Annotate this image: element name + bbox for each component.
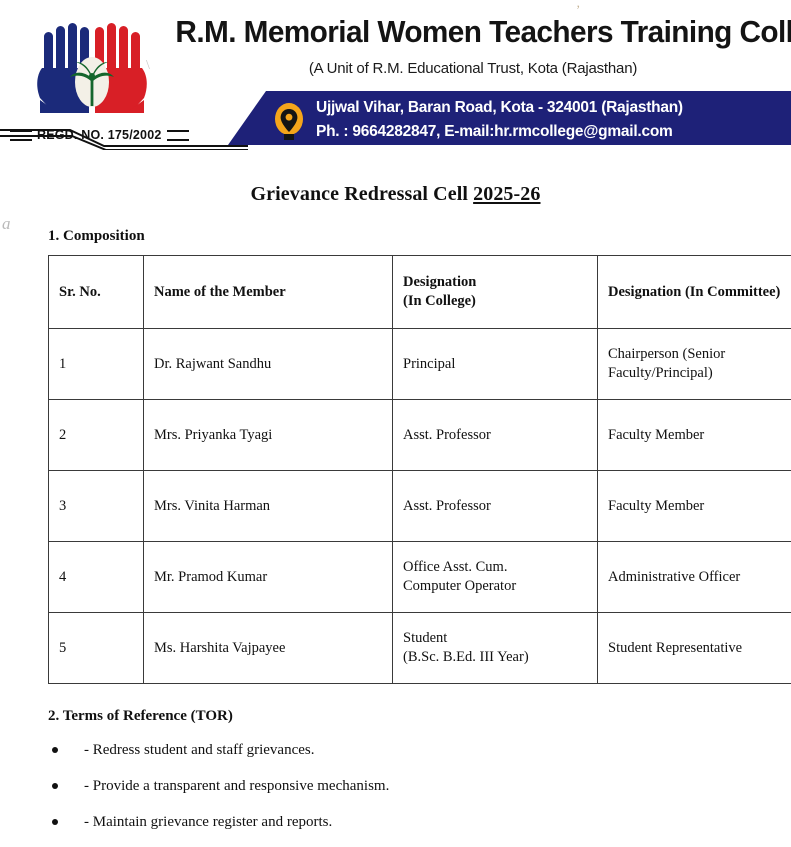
cell-designation-committee: Administrative Officer bbox=[598, 542, 791, 613]
cell-designation-college: Asst. Professor bbox=[393, 400, 598, 471]
scan-artifact-margin: a bbox=[2, 214, 11, 234]
list-item: - Redress student and staff grievances. bbox=[48, 740, 748, 762]
college-name: R.M. Memorial Women Teachers Training Co… bbox=[175, 16, 770, 49]
page-title-text: Grievance Redressal Cell bbox=[250, 183, 473, 205]
column-header-designation-college: Designation (In College) bbox=[393, 256, 598, 329]
cell-name: Mr. Pramod Kumar bbox=[144, 542, 393, 613]
table-header-row: Sr. No. Name of the Member Designation (… bbox=[49, 256, 791, 329]
letterhead: REGD. NO. 175/2002 R.M. Memorial Women T… bbox=[0, 0, 791, 168]
cell-designation-college-line1: Principal bbox=[403, 355, 587, 374]
section-heading-composition: 1. Composition bbox=[48, 228, 145, 245]
cell-designation-committee: Chairperson (Senior Faculty/Principal) bbox=[598, 329, 791, 400]
bullet-dot-icon bbox=[52, 747, 58, 753]
cell-designation-college: Principal bbox=[393, 329, 598, 400]
list-item-text: - Maintain grievance register and report… bbox=[84, 814, 332, 830]
page-title: Grievance Redressal Cell 2025-26 bbox=[0, 183, 791, 206]
table-row: 5 Ms. Harshita Vajpayee Student (B.Sc. B… bbox=[49, 613, 791, 684]
cell-name: Mrs. Vinita Harman bbox=[144, 471, 393, 542]
cell-designation-committee: Faculty Member bbox=[598, 400, 791, 471]
cell-designation-college: Student (B.Sc. B.Ed. III Year) bbox=[393, 613, 598, 684]
table-body: 1 Dr. Rajwant Sandhu Principal Chairpers… bbox=[49, 329, 791, 684]
cell-designation-college-line1: Student bbox=[403, 629, 587, 648]
cell-sr-no: 3 bbox=[49, 471, 144, 542]
cell-name: Ms. Harshita Vajpayee bbox=[144, 613, 393, 684]
cell-sr-no: 5 bbox=[49, 613, 144, 684]
banner-contact-block: Ujjwal Vihar, Baran Road, Kota - 324001 … bbox=[316, 96, 786, 144]
table-row: 2 Mrs. Priyanka Tyagi Asst. Professor Fa… bbox=[49, 400, 791, 471]
banner-tail-lines-icon bbox=[0, 124, 248, 150]
cell-name: Mrs. Priyanka Tyagi bbox=[144, 400, 393, 471]
cell-designation-college-line1: Asst. Professor bbox=[403, 497, 587, 516]
section-heading-tor: 2. Terms of Reference (TOR) bbox=[48, 708, 233, 725]
cell-designation-college: Asst. Professor bbox=[393, 471, 598, 542]
cell-sr-no: 4 bbox=[49, 542, 144, 613]
location-pin-icon bbox=[274, 103, 304, 141]
page-title-year: 2025-26 bbox=[473, 183, 540, 205]
cell-designation-college: Office Asst. Cum. Computer Operator bbox=[393, 542, 598, 613]
table-row: 3 Mrs. Vinita Harman Asst. Professor Fac… bbox=[49, 471, 791, 542]
table-row: 4 Mr. Pramod Kumar Office Asst. Cum. Com… bbox=[49, 542, 791, 613]
cell-designation-college-line2: Computer Operator bbox=[403, 577, 587, 596]
bullet-dot-icon bbox=[52, 819, 58, 825]
list-item: - Maintain grievance register and report… bbox=[48, 812, 748, 834]
cell-designation-college-line2: (B.Sc. B.Ed. III Year) bbox=[403, 648, 587, 667]
cell-sr-no: 2 bbox=[49, 400, 144, 471]
column-header-designation-college-line2: (In College) bbox=[403, 292, 587, 311]
banner-contact: Ph. : 9664282847, E-mail:hr.rmcollege@gm… bbox=[316, 120, 786, 144]
list-item-text: - Provide a transparent and responsive m… bbox=[84, 778, 389, 794]
cell-name: Dr. Rajwant Sandhu bbox=[144, 329, 393, 400]
table-row: 1 Dr. Rajwant Sandhu Principal Chairpers… bbox=[49, 329, 791, 400]
banner-address: Ujjwal Vihar, Baran Road, Kota - 324001 … bbox=[316, 96, 786, 120]
composition-table: Sr. No. Name of the Member Designation (… bbox=[48, 255, 791, 684]
cell-designation-committee: Faculty Member bbox=[598, 471, 791, 542]
list-item: - Provide a transparent and responsive m… bbox=[48, 776, 748, 798]
list-item-text: - Redress student and staff grievances. bbox=[84, 742, 315, 758]
bullet-dot-icon bbox=[52, 783, 58, 789]
column-header-sr-no: Sr. No. bbox=[49, 256, 144, 329]
column-header-designation-committee: Designation (In Committee) bbox=[598, 256, 791, 329]
cell-designation-college-line1: Office Asst. Cum. bbox=[403, 558, 587, 577]
cell-designation-committee: Student Representative bbox=[598, 613, 791, 684]
cell-designation-college-line1: Asst. Professor bbox=[403, 426, 587, 445]
college-unit-line: (A Unit of R.M. Educational Trust, Kota … bbox=[163, 60, 783, 77]
cell-sr-no: 1 bbox=[49, 329, 144, 400]
column-header-name: Name of the Member bbox=[144, 256, 393, 329]
tor-list: - Redress student and staff grievances. … bbox=[48, 740, 748, 847]
column-header-designation-college-line1: Designation bbox=[403, 273, 587, 292]
